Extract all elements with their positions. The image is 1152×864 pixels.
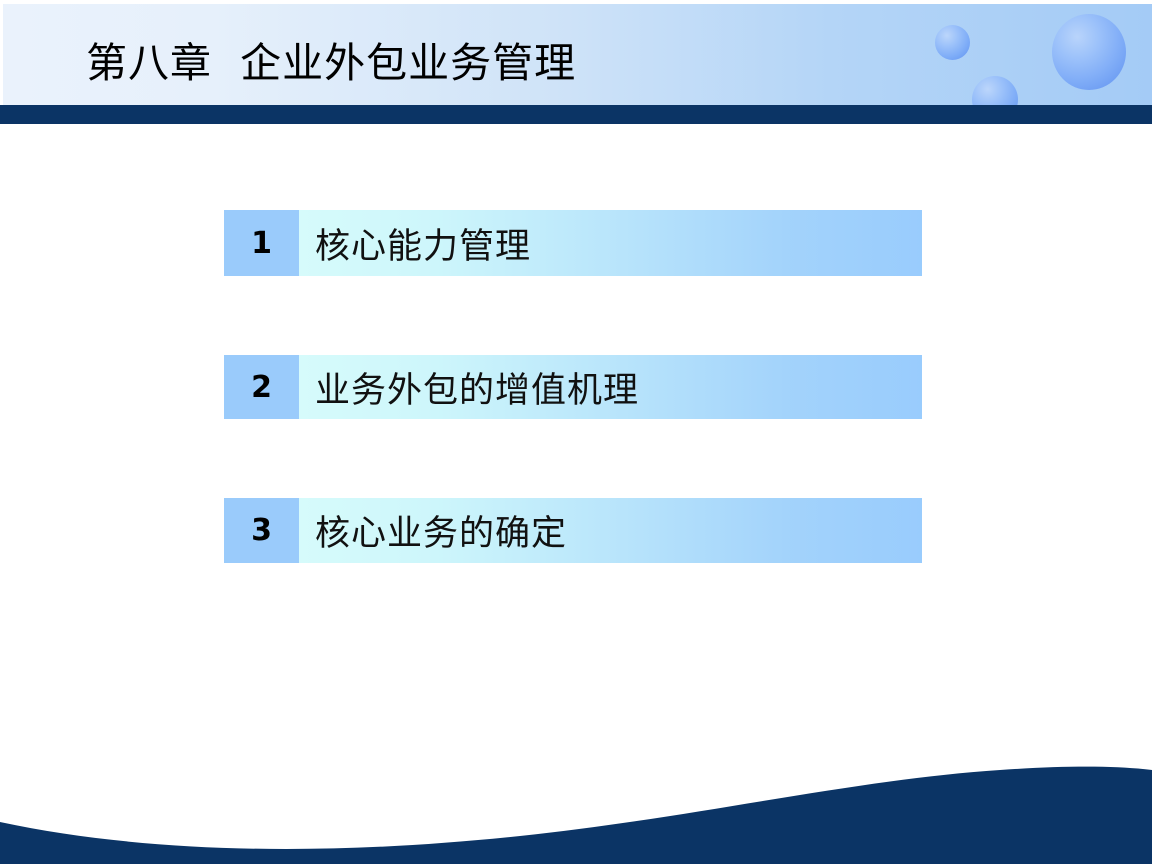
agenda-number-badge-2: 2 bbox=[224, 355, 299, 419]
agenda-number-1: 1 bbox=[251, 226, 272, 261]
agenda-item-2[interactable]: 2 业务外包的增值机理 bbox=[224, 355, 922, 419]
agenda-number-3: 3 bbox=[251, 513, 272, 548]
header-navy-band bbox=[0, 105, 1152, 124]
bubble-small-icon bbox=[935, 25, 970, 60]
slide-header: 第八章 企业外包业务管理 bbox=[0, 0, 1152, 124]
page-title: 第八章 企业外包业务管理 bbox=[86, 38, 576, 88]
agenda-bar-1: 核心能力管理 bbox=[299, 210, 922, 276]
agenda-label-2: 业务外包的增值机理 bbox=[315, 362, 639, 413]
agenda-number-2: 2 bbox=[251, 370, 272, 405]
agenda-item-1[interactable]: 1 核心能力管理 bbox=[224, 210, 922, 276]
bubble-large-icon bbox=[1052, 14, 1126, 90]
agenda-bar-3: 核心业务的确定 bbox=[299, 498, 922, 563]
footer-wave-decoration bbox=[0, 744, 1152, 864]
agenda-number-badge-3: 3 bbox=[224, 498, 299, 563]
slide: 第八章 企业外包业务管理 1 核心能力管理 2 业务外包的增值机理 3 bbox=[0, 0, 1152, 864]
agenda-number-badge-1: 1 bbox=[224, 210, 299, 276]
agenda-label-3: 核心业务的确定 bbox=[315, 505, 567, 556]
agenda-item-3[interactable]: 3 核心业务的确定 bbox=[224, 498, 922, 563]
agenda-list: 1 核心能力管理 2 业务外包的增值机理 3 核心业务的确定 bbox=[224, 210, 922, 563]
agenda-label-1: 核心能力管理 bbox=[315, 218, 531, 269]
agenda-bar-2: 业务外包的增值机理 bbox=[299, 355, 922, 419]
